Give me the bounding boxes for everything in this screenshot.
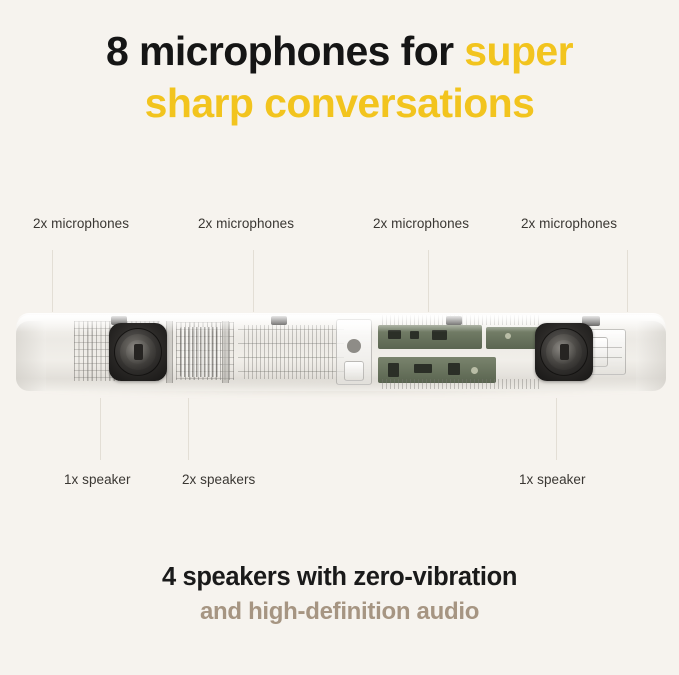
headline-accent-line-2: sharp conversations bbox=[145, 80, 535, 126]
pcb-chip-4 bbox=[388, 363, 399, 377]
footer-line-2: and high-definition audio bbox=[0, 597, 679, 627]
callout-label-microphones-4: 2x microphones bbox=[521, 216, 617, 231]
leader-line-speaker-1 bbox=[100, 398, 101, 460]
internal-line-4 bbox=[238, 371, 344, 372]
leader-line-microphones-1 bbox=[52, 250, 53, 312]
leader-line-speaker-2 bbox=[188, 398, 189, 460]
speaker-driver-left-terminal bbox=[134, 344, 143, 360]
page-headline: 8 microphones for super sharp conversati… bbox=[0, 26, 679, 129]
pcb-chip-6 bbox=[448, 363, 460, 375]
callout-label-speaker-3: 1x speaker bbox=[519, 472, 586, 487]
soundbar-cutaway-figure bbox=[16, 305, 666, 399]
callout-label-speaker-1: 1x speaker bbox=[64, 472, 131, 487]
callout-label-microphones-1: 2x microphones bbox=[33, 216, 129, 231]
callout-label-speaker-2: 2x speakers bbox=[182, 472, 255, 487]
pcb-pad-2 bbox=[505, 333, 511, 339]
headline-plain-text: 8 microphones for bbox=[106, 28, 464, 74]
internal-line-2 bbox=[238, 343, 344, 344]
grille-texture-right-bottom bbox=[382, 379, 542, 389]
center-module-port bbox=[347, 339, 361, 353]
center-module-sub bbox=[344, 361, 364, 381]
coil-assembly bbox=[180, 327, 220, 377]
pcb-chip-5 bbox=[414, 364, 432, 373]
leader-line-speaker-3 bbox=[556, 398, 557, 460]
leader-line-microphones-3 bbox=[428, 250, 429, 312]
headline-accent-super: super bbox=[464, 28, 573, 74]
callout-label-microphones-2: 2x microphones bbox=[198, 216, 294, 231]
footer-line-1: 4 speakers with zero-vibration bbox=[0, 562, 679, 593]
callout-label-microphones-3: 2x microphones bbox=[373, 216, 469, 231]
leader-line-microphones-2 bbox=[253, 250, 254, 312]
pcb-pad-1 bbox=[471, 367, 478, 374]
headline-line-1: 8 microphones for super bbox=[106, 28, 573, 74]
speaker-driver-right-terminal bbox=[560, 344, 569, 360]
leader-line-microphones-4 bbox=[627, 250, 628, 312]
footer-caption: 4 speakers with zero-vibration and high-… bbox=[0, 562, 679, 627]
internal-line-3 bbox=[238, 357, 344, 358]
pcb-chip-2 bbox=[410, 331, 419, 339]
